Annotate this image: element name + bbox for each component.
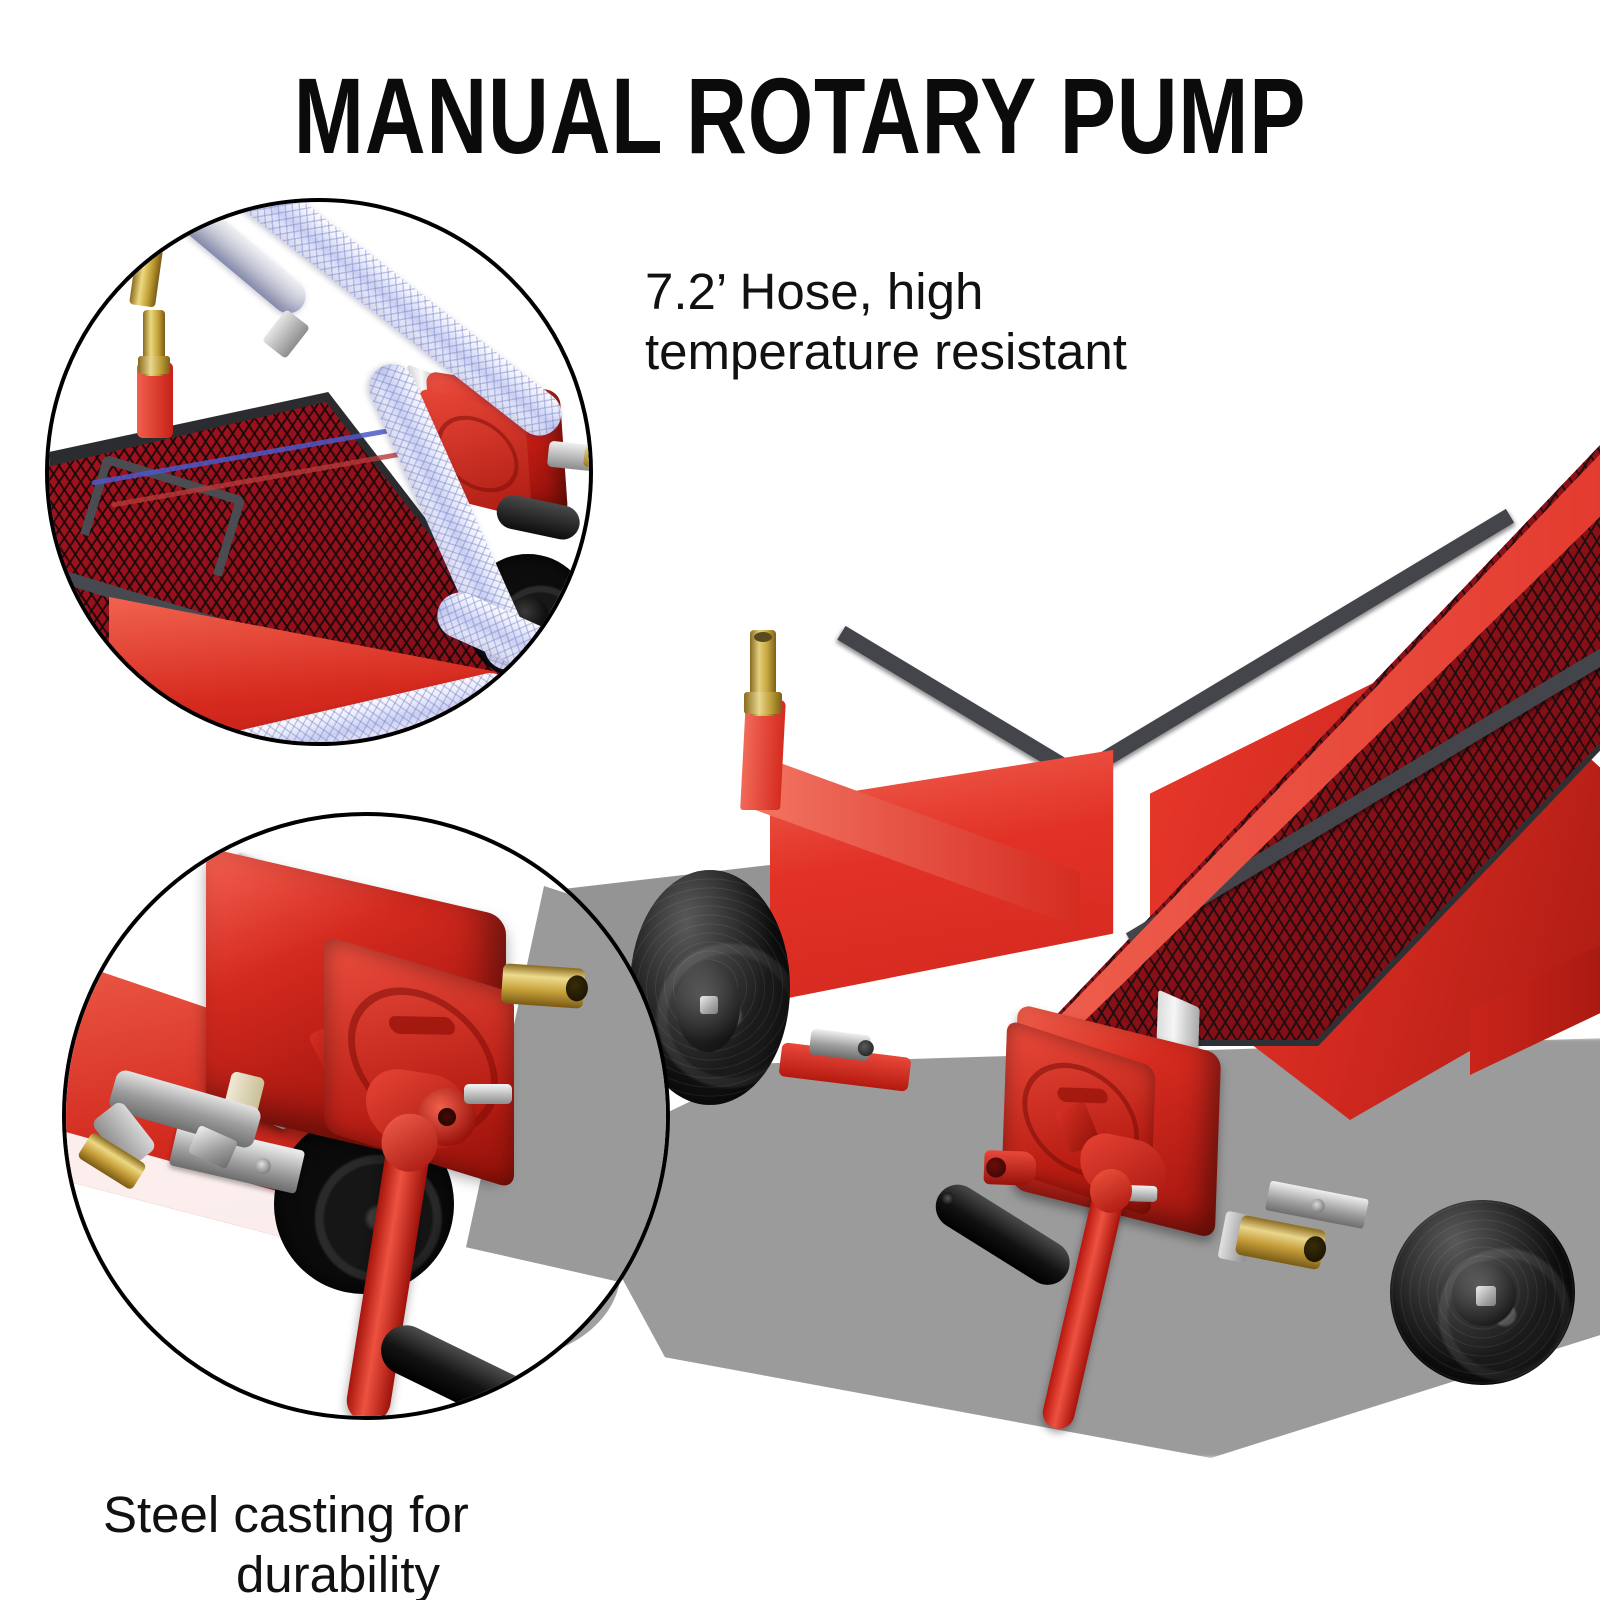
black-crank-grip (373, 1317, 566, 1420)
rubber-wheel-rear (1390, 1200, 1575, 1385)
infographic-canvas: MANUAL ROTARY PUMP (0, 0, 1600, 1600)
pump-casting-scene (66, 816, 666, 1416)
brass-outlet-barb (1235, 1215, 1327, 1271)
black-crank-grip (494, 492, 583, 543)
crank-handle (1040, 1181, 1127, 1432)
hose-detail-circle: EVOR (45, 198, 593, 746)
casting-caption-line-2: durability (103, 1545, 573, 1600)
oil-drain-pan (620, 390, 1600, 1370)
red-standpipe (740, 700, 786, 810)
hose-clamp (262, 309, 310, 359)
hose-detail-scene: EVOR (49, 202, 589, 742)
wheel-gloss (1390, 1200, 1575, 1385)
page-title: MANUAL ROTARY PUMP (176, 62, 1424, 170)
casting-callout-caption: Steel casting for durability (103, 1425, 663, 1600)
rotary-hand-pump (992, 983, 1428, 1477)
brass-hose-tip (129, 246, 163, 307)
pump-casting-circle (62, 812, 670, 1420)
hose-callout-caption: 7.2’ Hose, high temperature resistant (645, 262, 1305, 382)
casting-caption-line-1: Steel casting for (103, 1486, 469, 1543)
brass-hose-barb-fitting (750, 630, 776, 716)
brass-hose-barb (143, 310, 165, 376)
pump-inlet-port (983, 1150, 1036, 1186)
pump-lock-pin (464, 1084, 512, 1104)
brass-hose-barb (501, 963, 586, 1009)
